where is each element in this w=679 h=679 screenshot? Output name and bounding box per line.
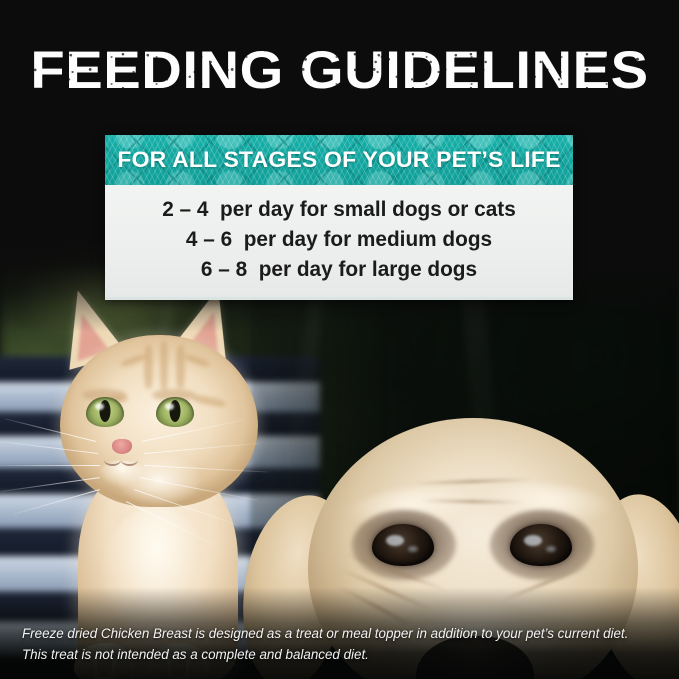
kitten-eye-left [86,397,124,427]
feeding-guidelines-poster: FEEDING GUIDELINES FOR ALL STAGES OF YOU… [0,0,679,679]
kitten-nose [112,439,132,454]
dog-eye-left [372,524,434,566]
feeding-line-large: 6 – 8 per day for large dogs [107,255,570,285]
feeding-guidelines-card: FOR ALL STAGES OF YOUR PET’S LIFE 2 – 4 … [105,135,573,300]
kitten-eye-right [156,397,194,427]
disclaimer: Freeze dried Chicken Breast is designed … [22,623,670,665]
card-body: 2 – 4 per day for small dogs or cats 4 –… [105,185,573,300]
card-banner-label: FOR ALL STAGES OF YOUR PET’S LIFE [105,135,573,185]
feeding-line-small: 2 – 4 per day for small dogs or cats [107,195,570,225]
feeding-line-medium: 4 – 6 per day for medium dogs [107,225,570,255]
card-banner: FOR ALL STAGES OF YOUR PET’S LIFE [105,135,573,185]
dog-eye-right [510,524,572,566]
page-title: FEEDING GUIDELINES [0,44,679,97]
disclaimer-line-2: This treat is not intended as a complete… [22,644,670,665]
pet-photo [0,236,679,679]
disclaimer-line-1: Freeze dried Chicken Breast is designed … [22,623,670,644]
